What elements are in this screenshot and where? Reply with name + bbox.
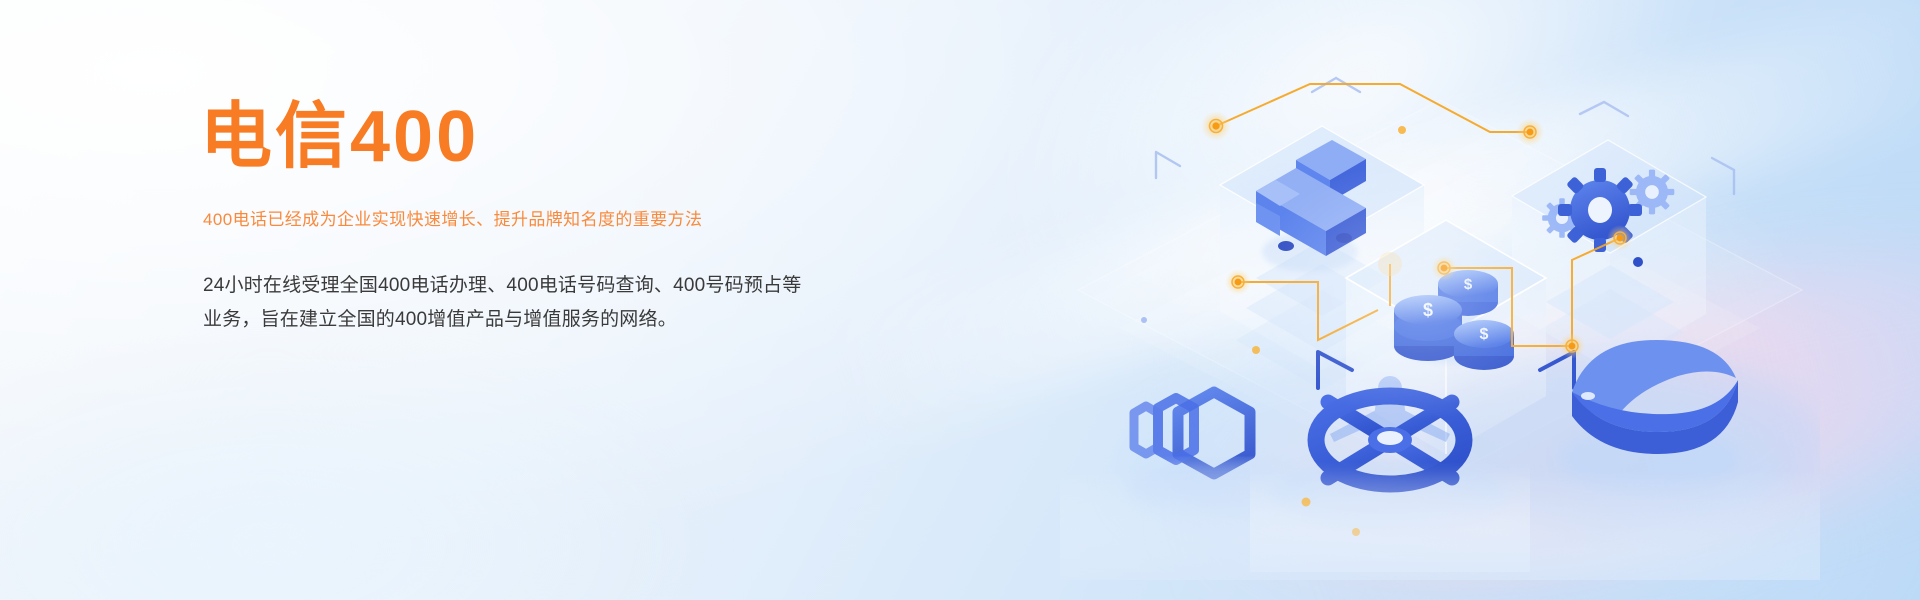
hero-text-block: 电信400 400电话已经成为企业实现快速增长、提升品牌知名度的重要方法 24小…: [200, 95, 980, 337]
glow-left-bottom: [0, 330, 720, 600]
page-title: 电信400: [200, 95, 980, 179]
isometric-illustration-svg: $ $ $: [1060, 40, 1820, 580]
hero-banner: 电信400 400电话已经成为企业实现快速增长、提升品牌知名度的重要方法 24小…: [0, 0, 1920, 600]
hero-subtitle: 400电话已经成为企业实现快速增长、提升品牌知名度的重要方法: [203, 207, 980, 233]
hero-illustration: $ $ $: [1060, 40, 1820, 580]
hero-description: 24小时在线受理全国400电话办理、400电话号码查询、400号码预占等业务，旨…: [203, 269, 813, 337]
